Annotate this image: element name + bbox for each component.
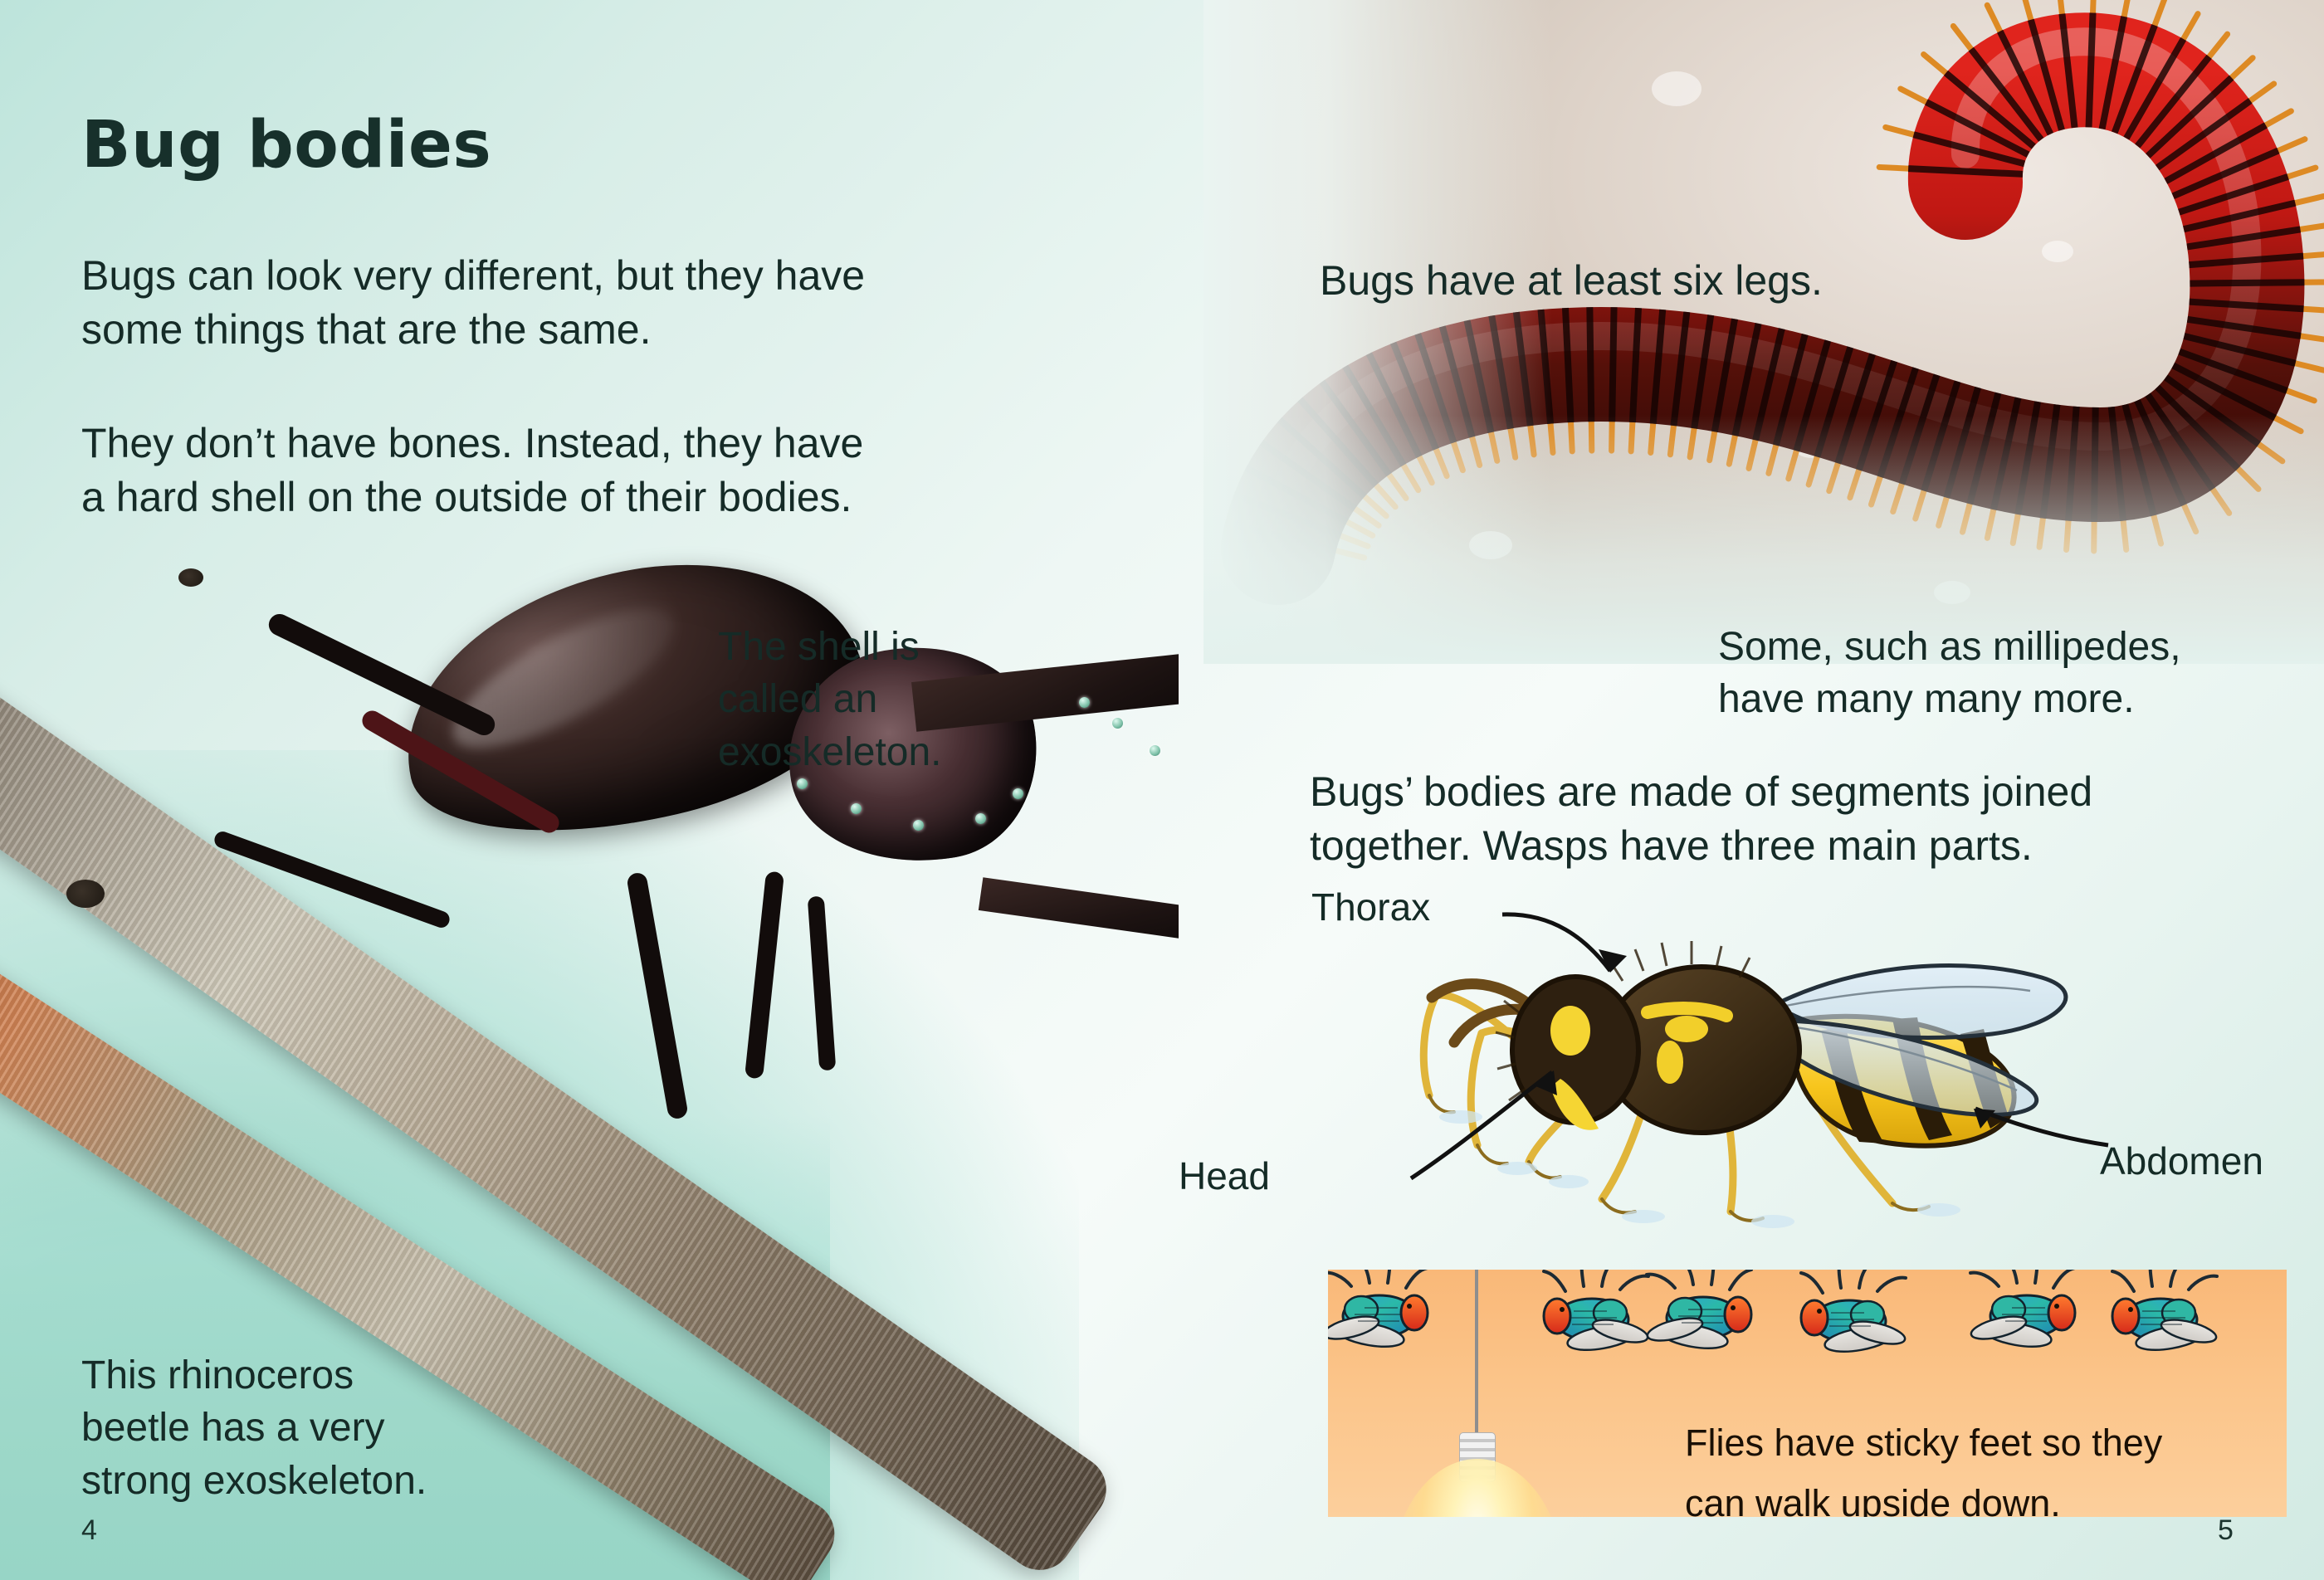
beetle-leg	[808, 896, 837, 1071]
fly-fact-box: Flies have sticky feet so they can walk …	[1328, 1270, 2287, 1517]
flies-row	[1328, 1270, 2287, 1401]
wasp-label-thorax: Thorax	[1311, 885, 1430, 929]
millipede-photo	[1203, 0, 2324, 664]
light-bulb-icon	[1390, 1459, 1565, 1517]
book-page-spread: Bug bodies Bugs can look very different,…	[0, 0, 2324, 1580]
wasp-anatomy-diagram: Thorax Head Abdomen	[1311, 880, 2291, 1228]
beetle-leg	[745, 871, 784, 1080]
page-number-left: 4	[81, 1514, 97, 1547]
intro-paragraph-1: Bugs can look very different, but they h…	[81, 249, 1077, 357]
beetle-caption: This rhinoceros beetle has a very strong…	[81, 1349, 579, 1507]
page-number-right: 5	[2218, 1514, 2234, 1547]
branch-knot-icon	[66, 880, 105, 908]
millipede-caption: Some, such as millipedes, have many many…	[1718, 621, 2299, 726]
six-legs-caption: Bugs have at least six legs.	[1320, 253, 2067, 308]
page-title: Bug bodies	[81, 108, 491, 183]
shell-caption: The shell is called an exoskeleton.	[718, 621, 1067, 778]
wasp-label-abdomen: Abdomen	[2100, 1139, 2263, 1183]
fly-fact-text: Flies have sticky feet so they can walk …	[1685, 1413, 2266, 1517]
beetle-horn-lower	[979, 877, 1179, 948]
branch-knot-icon	[178, 568, 203, 587]
segments-paragraph: Bugs’ bodies are made of segments joined…	[1310, 765, 2306, 873]
beetle-leg	[626, 871, 689, 1120]
intro-paragraph-2: They don’t have bones. Instead, they hav…	[81, 417, 1077, 524]
wasp-label-head: Head	[1179, 1153, 1270, 1198]
